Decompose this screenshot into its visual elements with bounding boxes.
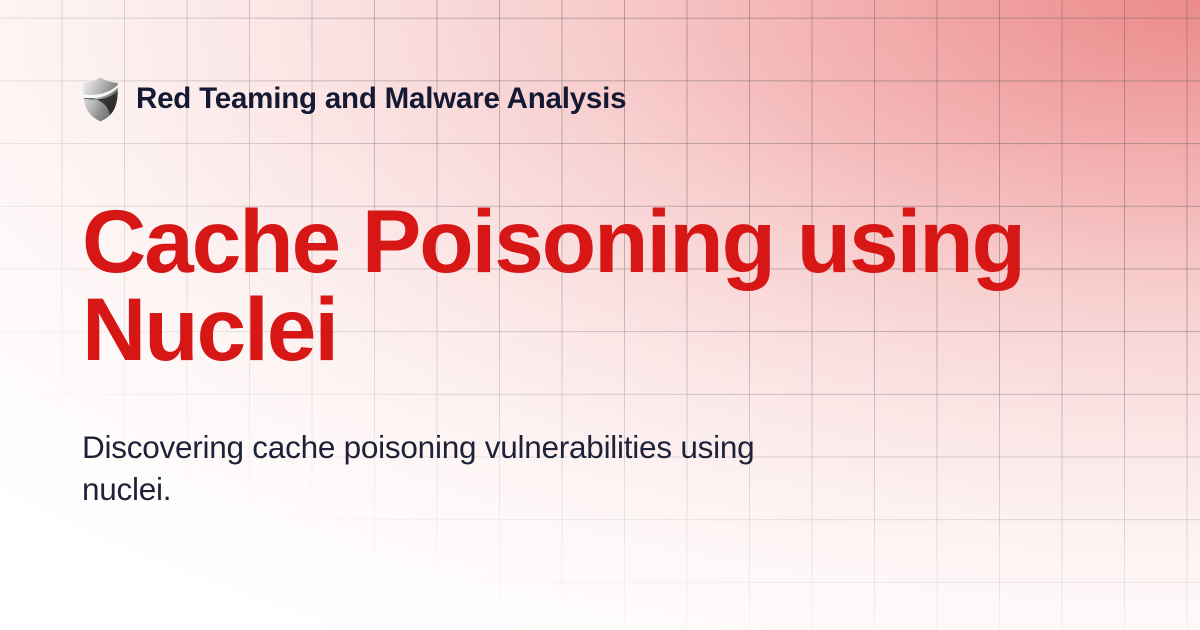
shield-icon	[82, 77, 119, 122]
page-description: Discovering cache poisoning vulnerabilit…	[82, 427, 842, 511]
card-content: Red Teaming and Malware Analysis Cache P…	[0, 0, 1200, 630]
brand-name: Red Teaming and Malware Analysis	[136, 84, 626, 114]
page-title: Cache Poisoning using Nuclei	[82, 197, 1042, 373]
og-card: Red Teaming and Malware Analysis Cache P…	[0, 0, 1200, 630]
brand-row: Red Teaming and Malware Analysis	[82, 74, 1118, 124]
